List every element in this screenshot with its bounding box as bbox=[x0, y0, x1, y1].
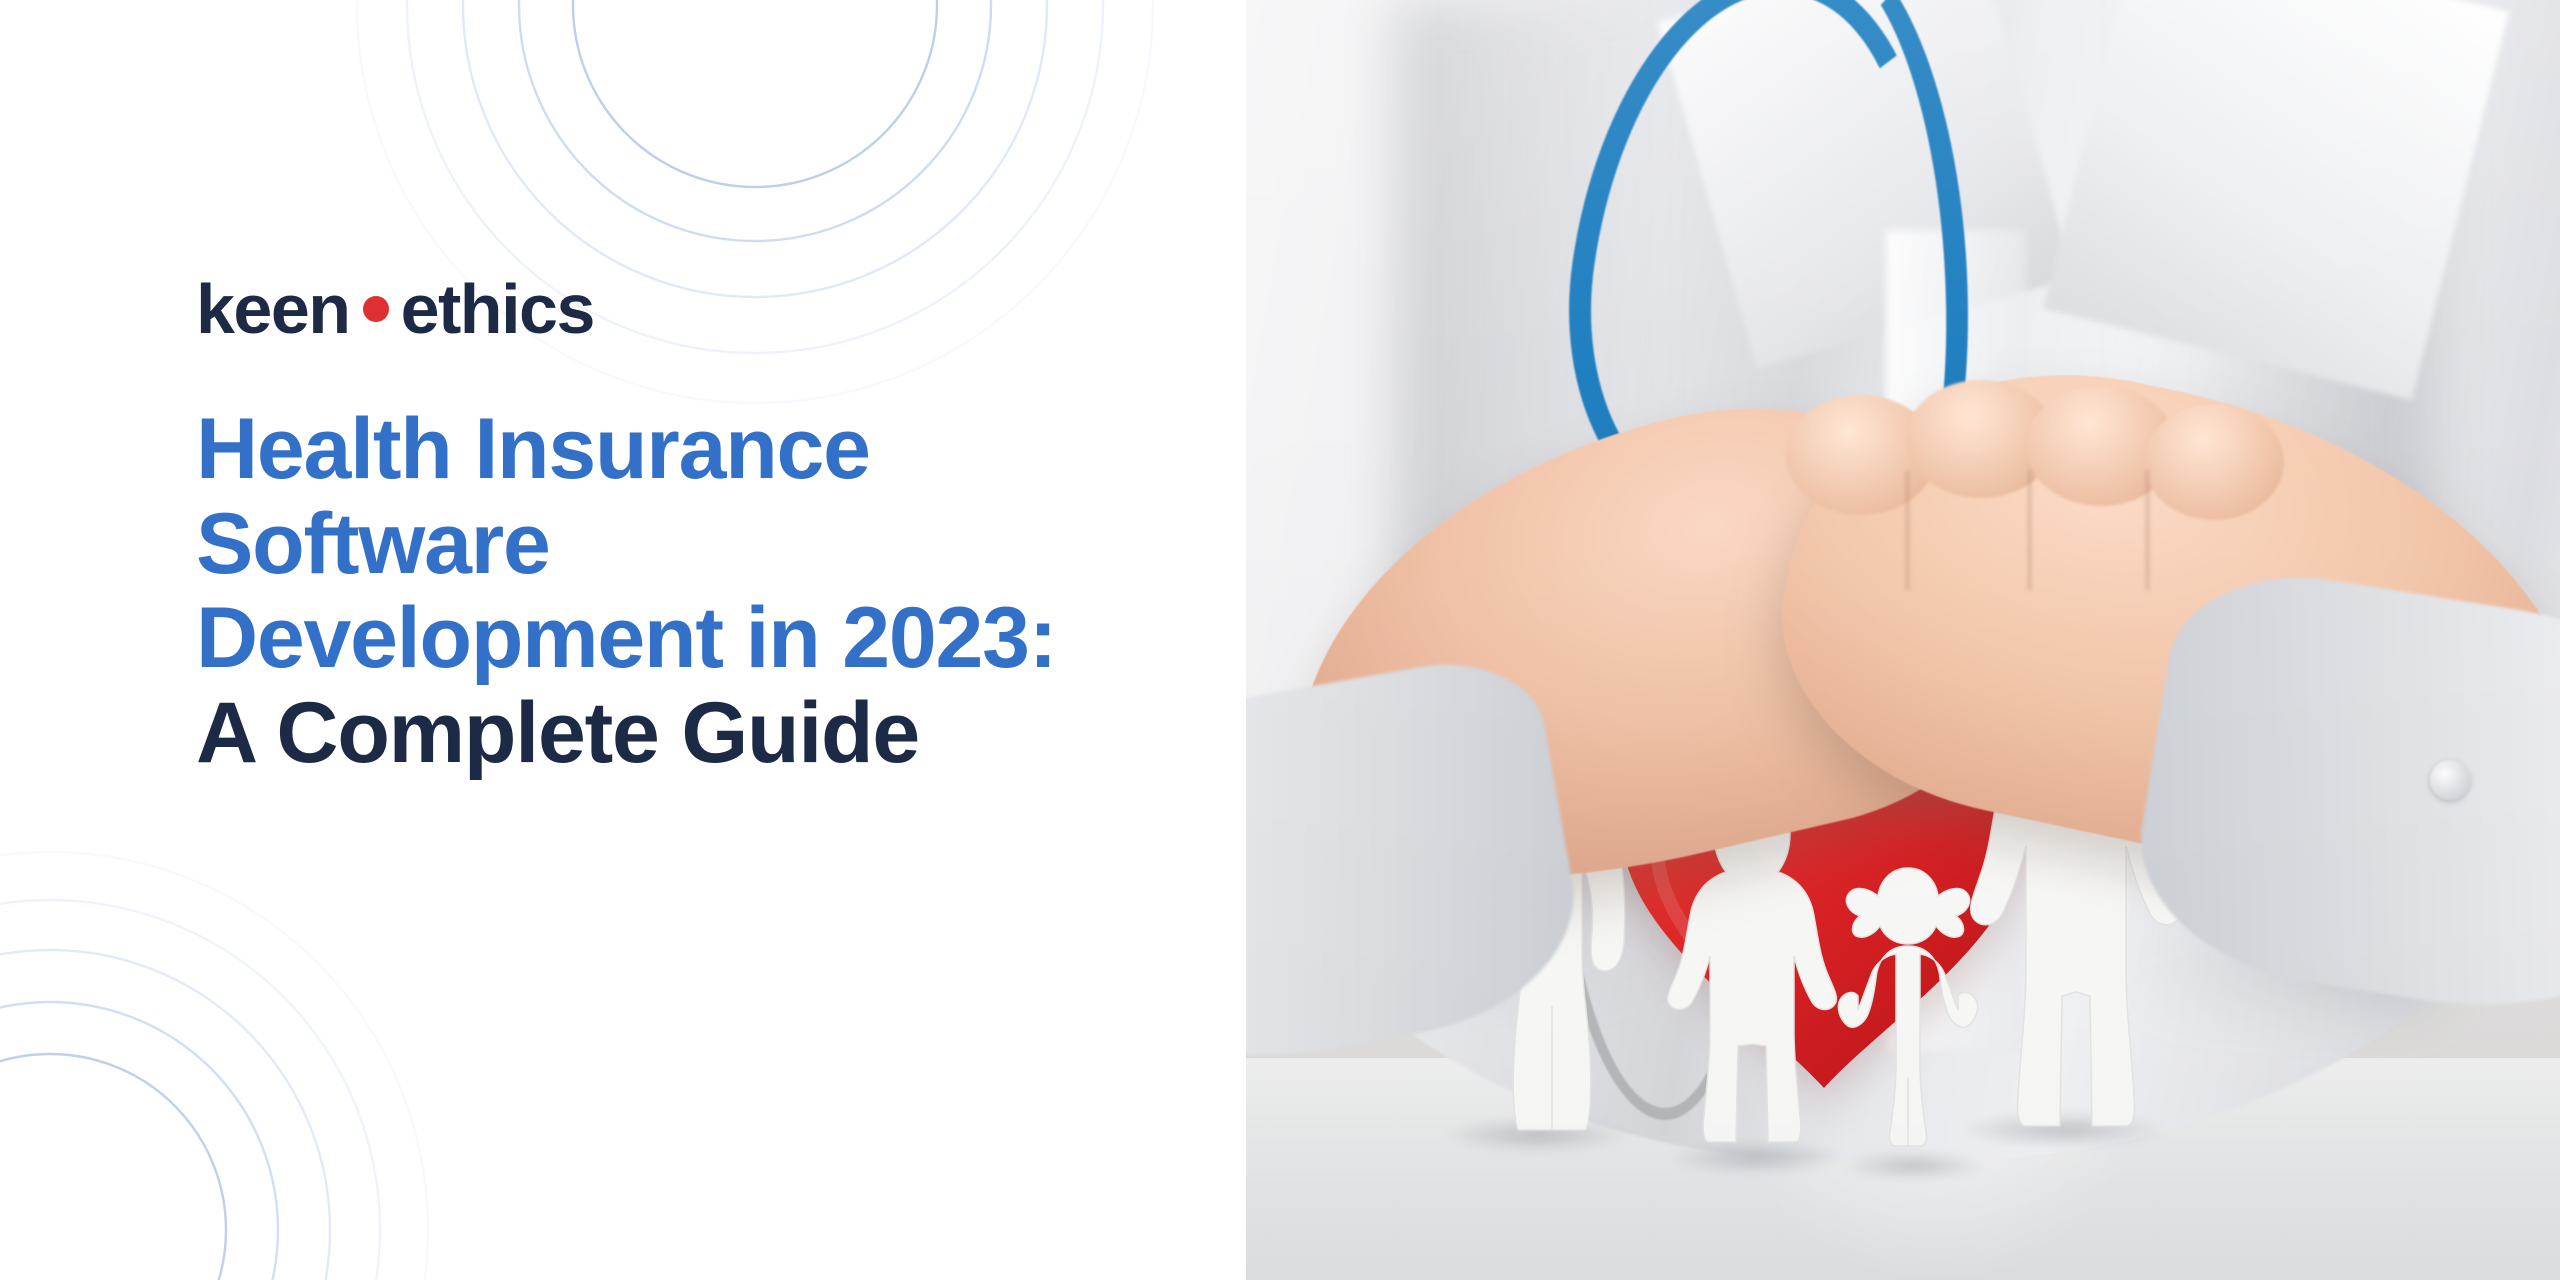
logo-red-dot-icon bbox=[363, 296, 389, 322]
paper-figure-girl-icon bbox=[1834, 848, 1982, 1148]
finger-knuckle-4 bbox=[2144, 404, 2284, 520]
decorative-rings-bottom-icon bbox=[0, 850, 430, 1280]
cuff-button-icon bbox=[2430, 760, 2470, 800]
keenethics-logo[interactable]: keen ethics bbox=[196, 272, 1156, 346]
finger-crease-2 bbox=[2028, 470, 2031, 590]
blog-cover-banner: keen ethics Health Insurance Software De… bbox=[0, 0, 2560, 1280]
page-title: Health Insurance Software Development in… bbox=[196, 402, 1096, 780]
finger-crease-1 bbox=[1906, 470, 1909, 590]
figure-shadow-girl bbox=[1838, 1152, 1988, 1180]
photo-scene bbox=[1246, 0, 2560, 1280]
text-content: keen ethics Health Insurance Software De… bbox=[196, 272, 1156, 780]
logo-word-keen: keen bbox=[196, 274, 350, 344]
hero-photo bbox=[1246, 0, 2560, 1280]
logo-word-ethics: ethics bbox=[401, 274, 594, 344]
figure-shadow-boy bbox=[1666, 1142, 1846, 1174]
text-panel: keen ethics Health Insurance Software De… bbox=[0, 0, 1246, 1280]
page-title-navy-part: A Complete Guide bbox=[196, 685, 919, 781]
finger-crease-3 bbox=[2146, 470, 2149, 590]
page-title-blue-part: Health Insurance Software Development in… bbox=[196, 401, 1056, 686]
